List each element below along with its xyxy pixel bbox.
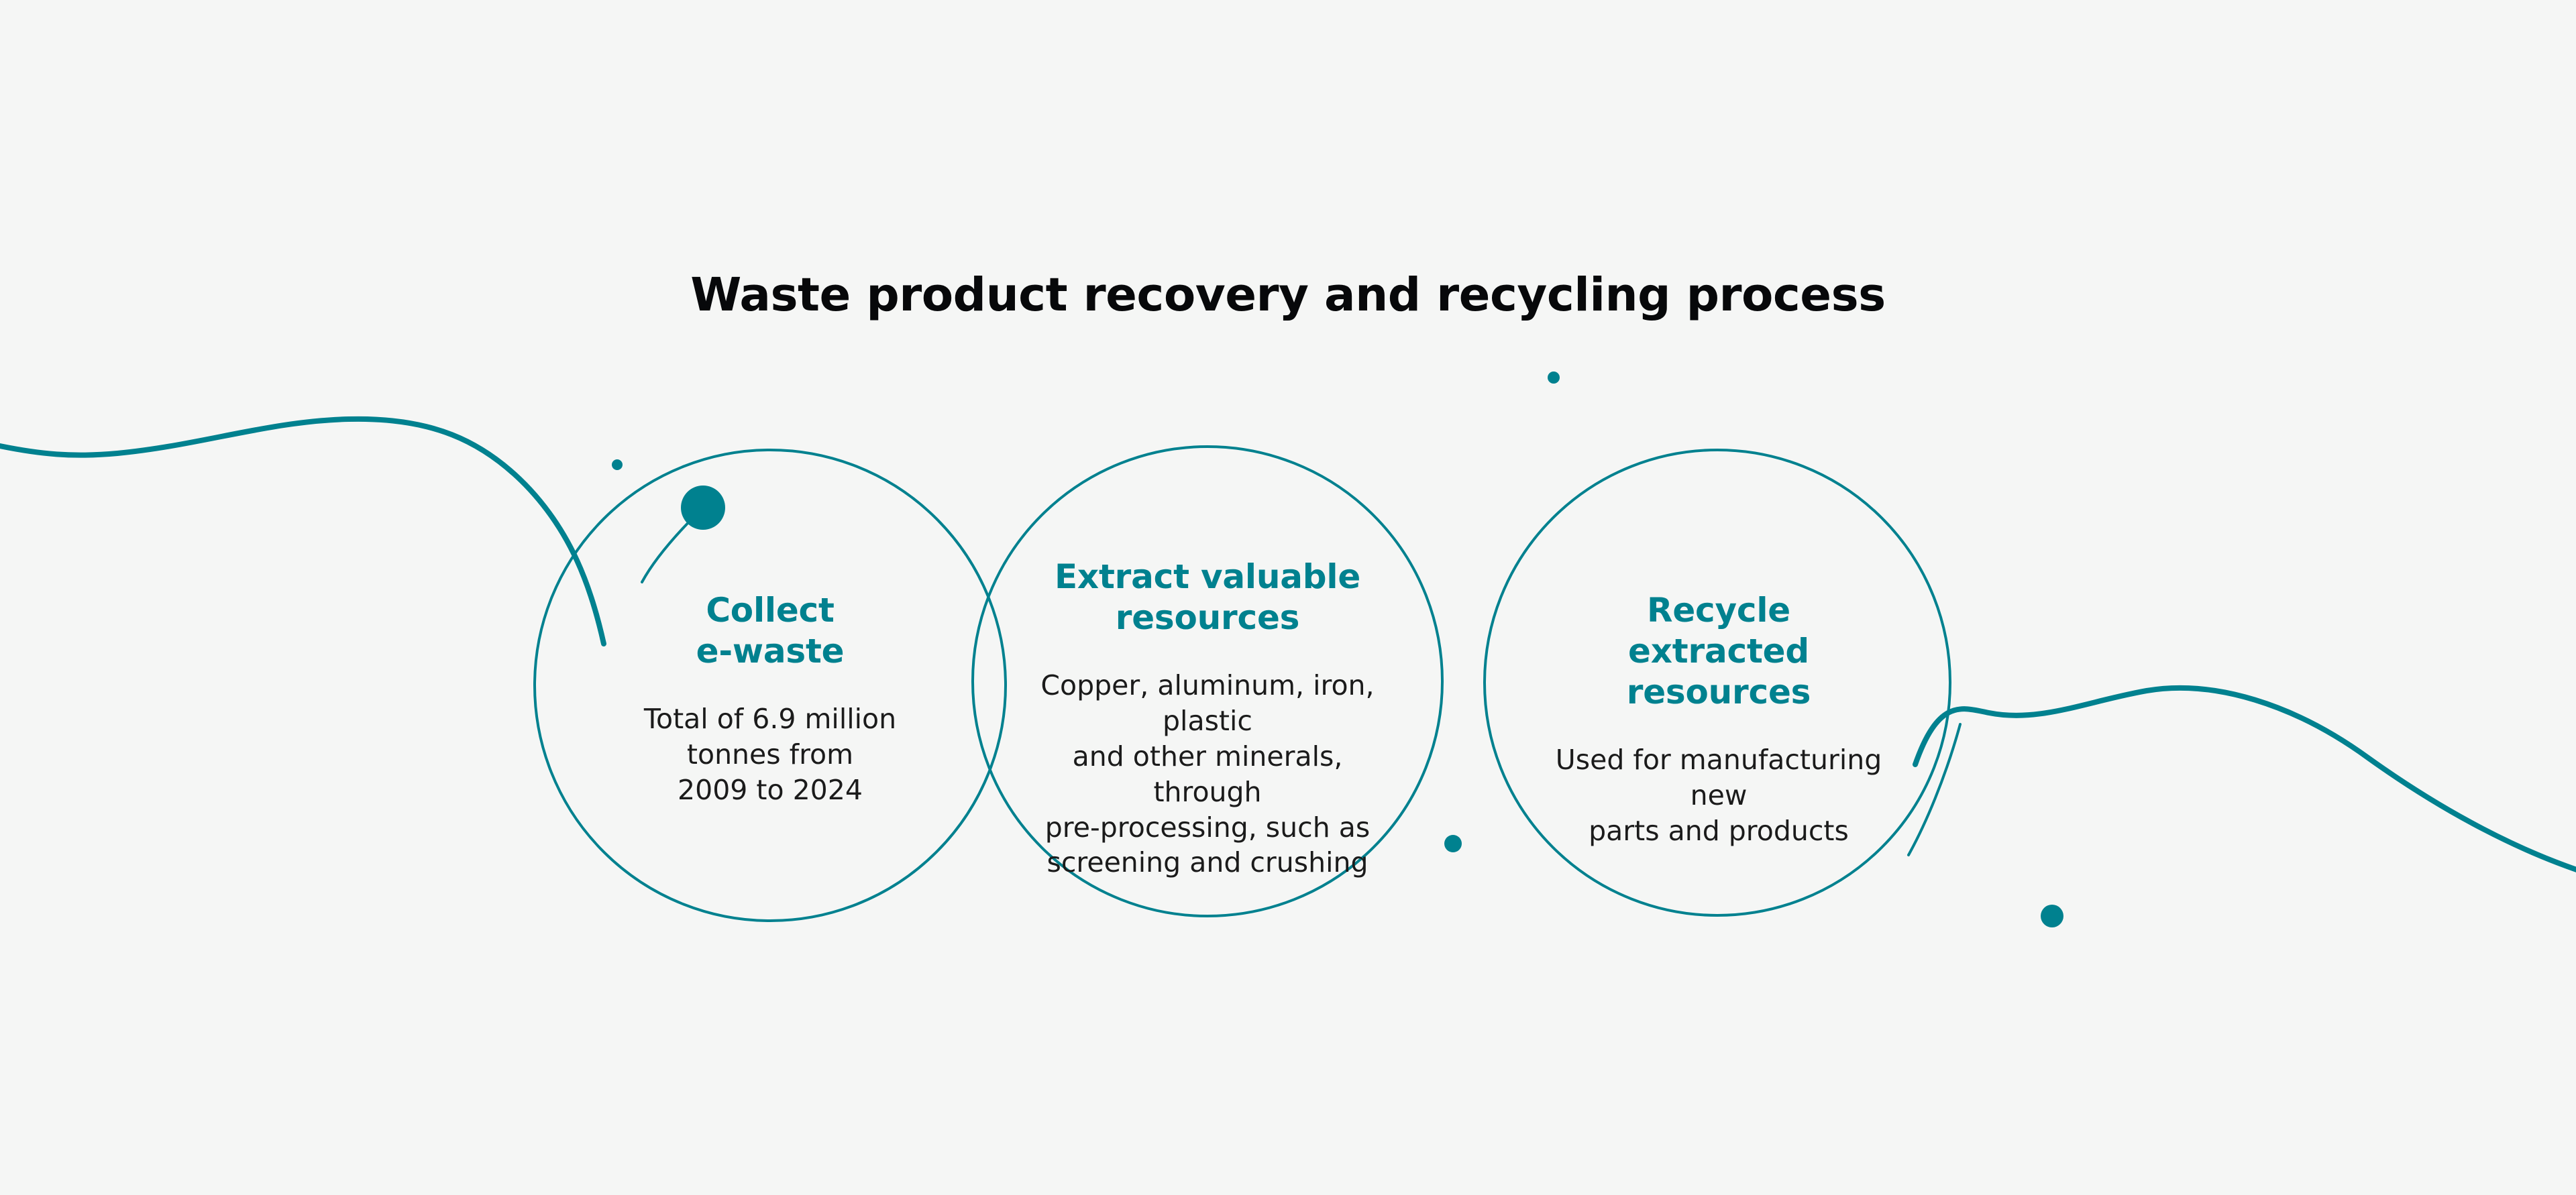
page-title: Waste product recovery and recycling pro…	[0, 268, 2576, 322]
dot-large-start-icon	[681, 486, 725, 530]
dot-small-upper-left-icon	[612, 459, 623, 470]
stage-collect: Collect e-waste Total of 6.9 million ton…	[602, 590, 938, 808]
stage-recycle-description: Used for manufacturing new parts and pro…	[1551, 742, 1886, 849]
stage-extract-description: Copper, aluminum, iron, plastic and othe…	[1040, 668, 1375, 880]
infographic-canvas: Waste product recovery and recycling pro…	[0, 0, 2576, 1195]
ribbon-right-wave	[1915, 688, 2576, 872]
ribbon-left-wave	[0, 419, 604, 644]
stage-extract-title: Extract valuable resources	[1040, 557, 1375, 638]
stage-collect-description: Total of 6.9 million tonnes from 2009 to…	[602, 701, 938, 808]
stage-extract: Extract valuable resources Copper, alumi…	[1040, 557, 1375, 880]
dot-medium-lower-center-icon	[1444, 835, 1462, 852]
stage-recycle-title: Recycle extracted resources	[1551, 590, 1886, 713]
dot-medium-lower-right-icon	[2041, 905, 2063, 927]
stage-collect-title: Collect e-waste	[602, 590, 938, 672]
stage-recycle: Recycle extracted resources Used for man…	[1551, 590, 1886, 849]
dot-small-above-center-icon	[1548, 372, 1560, 384]
ribbon-right-tail-stub	[1909, 724, 1960, 855]
